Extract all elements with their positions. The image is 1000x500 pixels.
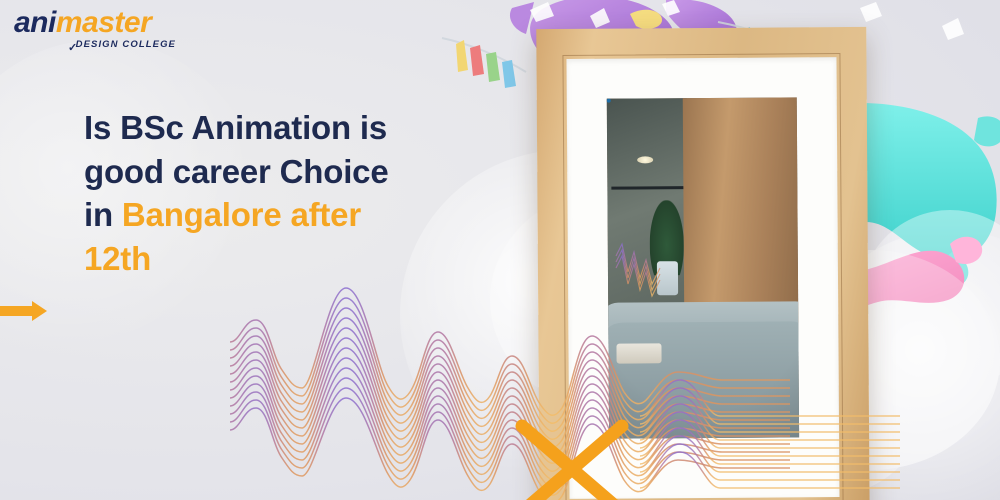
logo-tagline: DESIGN COLLEGE xyxy=(14,39,194,50)
logo-wordmark: animaster xyxy=(14,8,194,38)
logo-text-master: master xyxy=(56,6,151,39)
headline-line-3-prefix: in xyxy=(84,196,122,233)
page-title: Is BSc Animation is good career Choice i… xyxy=(84,106,464,280)
cross-mark-icon xyxy=(512,418,632,500)
brand-logo[interactable]: animaster ✓ DESIGN COLLEGE xyxy=(14,8,194,50)
headline-line-1: Is BSc Animation is xyxy=(84,106,464,150)
headline-line-4-accent: 12th xyxy=(84,237,464,281)
headline-line-3-accent: Bangalore after xyxy=(122,196,361,233)
headline-line-2: good career Choice xyxy=(84,150,464,194)
logo-text-ani: ani xyxy=(14,6,56,39)
photo-vignette xyxy=(607,97,799,438)
photo-three-women xyxy=(607,97,799,438)
bunting-left xyxy=(442,38,526,88)
headline-line-3: in Bangalore after xyxy=(84,193,464,237)
banner-canvas: animaster ✓ DESIGN COLLEGE Is BSc Animat… xyxy=(0,0,1000,500)
logo-check-icon: ✓ xyxy=(68,41,77,54)
right-arrow-icon xyxy=(0,300,48,322)
